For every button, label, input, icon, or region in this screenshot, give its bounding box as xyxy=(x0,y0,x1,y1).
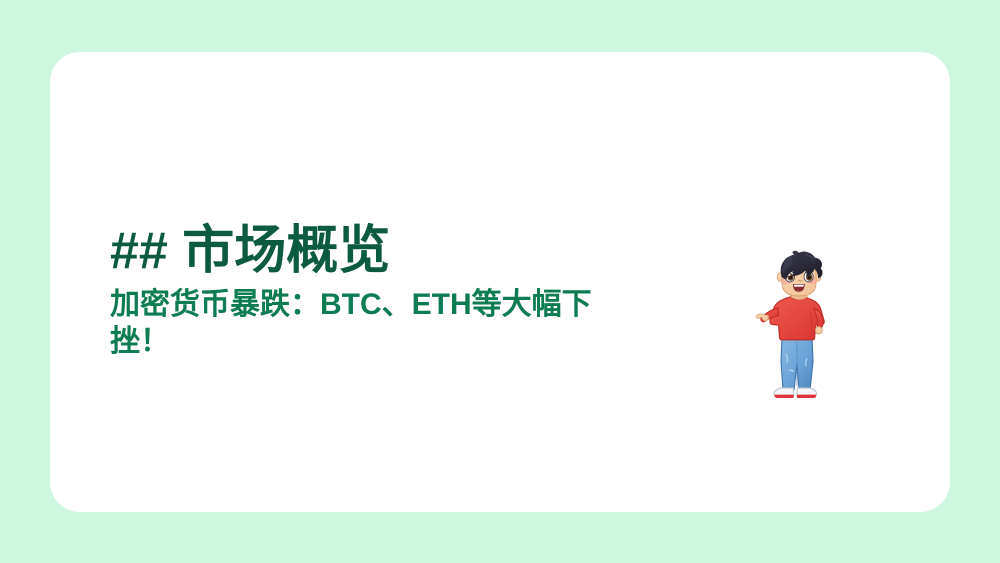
shoes xyxy=(774,388,817,398)
cartoon-boy-pointing-illustration xyxy=(750,250,850,410)
slide-root: ## 市场概览 加密货币暴跌：BTC、ETH等大幅下挫！ xyxy=(0,0,1000,563)
text-block: ## 市场概览 加密货币暴跌：BTC、ETH等大幅下挫！ xyxy=(110,220,650,360)
page-title: ## 市场概览 xyxy=(110,220,650,282)
page-subtitle: 加密货币暴跌：BTC、ETH等大幅下挫！ xyxy=(110,286,600,360)
jeans-group xyxy=(781,336,813,390)
content-card: ## 市场概览 加密货币暴跌：BTC、ETH等大幅下挫！ xyxy=(50,52,950,512)
